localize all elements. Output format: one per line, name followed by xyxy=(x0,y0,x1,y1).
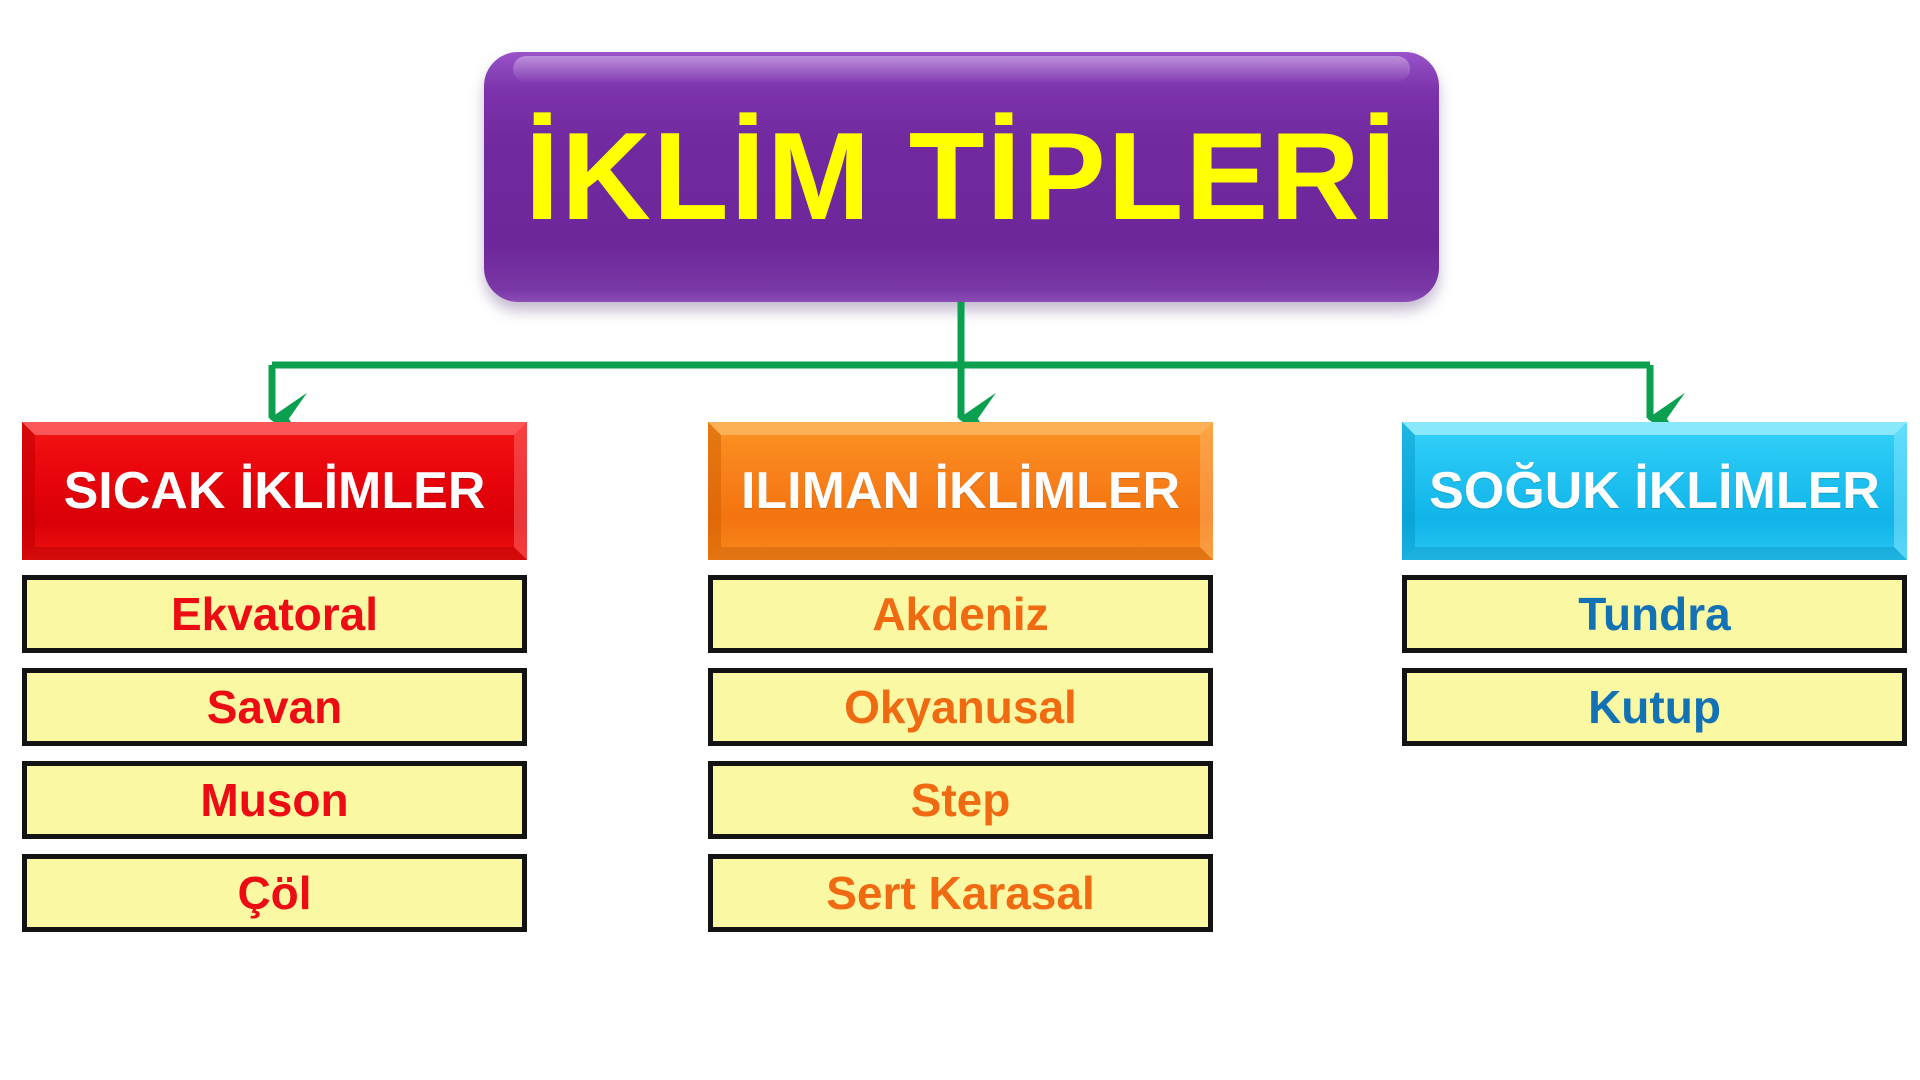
branch-column-temperate: ILIMAN İKLİMLER Akdeniz Okyanusal Step S… xyxy=(708,422,1213,932)
branch-header-cold-label: SOĞUK İKLİMLER xyxy=(1429,461,1880,521)
branch-header-temperate-label: ILIMAN İKLİMLER xyxy=(741,461,1180,521)
diagram-canvas: İKLİM TİPLERİ SICAK İKLİMLER Ekvatoral xyxy=(0,0,1920,1080)
climate-item-label: Okyanusal xyxy=(844,684,1077,730)
climate-item-label: Sert Karasal xyxy=(826,870,1095,916)
climate-item[interactable]: Step xyxy=(708,761,1213,839)
climate-item-label: Step xyxy=(911,777,1011,823)
diagram-title-box: İKLİM TİPLERİ xyxy=(484,52,1439,302)
climate-item-label: Kutup xyxy=(1588,684,1721,730)
diagram-title-text: İKLİM TİPLERİ xyxy=(525,115,1398,239)
climate-item-label: Ekvatoral xyxy=(171,591,378,637)
climate-item-label: Muson xyxy=(200,777,348,823)
branch-header-temperate[interactable]: ILIMAN İKLİMLER xyxy=(708,422,1213,560)
climate-item[interactable]: Kutup xyxy=(1402,668,1907,746)
climate-item-label: Savan xyxy=(207,684,343,730)
branch-column-cold: SOĞUK İKLİMLER Tundra Kutup xyxy=(1402,422,1907,746)
climate-item-label: Çöl xyxy=(237,870,311,916)
branch-header-cold[interactable]: SOĞUK İKLİMLER xyxy=(1402,422,1907,560)
climate-item-label: Akdeniz xyxy=(872,591,1048,637)
climate-item[interactable]: Çöl xyxy=(22,854,527,932)
climate-item[interactable]: Tundra xyxy=(1402,575,1907,653)
climate-item[interactable]: Okyanusal xyxy=(708,668,1213,746)
climate-item-label: Tundra xyxy=(1578,591,1730,637)
climate-item[interactable]: Savan xyxy=(22,668,527,746)
climate-item[interactable]: Akdeniz xyxy=(708,575,1213,653)
branch-header-hot-label: SICAK İKLİMLER xyxy=(64,461,486,521)
climate-item[interactable]: Ekvatoral xyxy=(22,575,527,653)
climate-item[interactable]: Sert Karasal xyxy=(708,854,1213,932)
branch-header-hot[interactable]: SICAK İKLİMLER xyxy=(22,422,527,560)
climate-item[interactable]: Muson xyxy=(22,761,527,839)
branch-column-hot: SICAK İKLİMLER Ekvatoral Savan Muson Çöl xyxy=(22,422,527,932)
